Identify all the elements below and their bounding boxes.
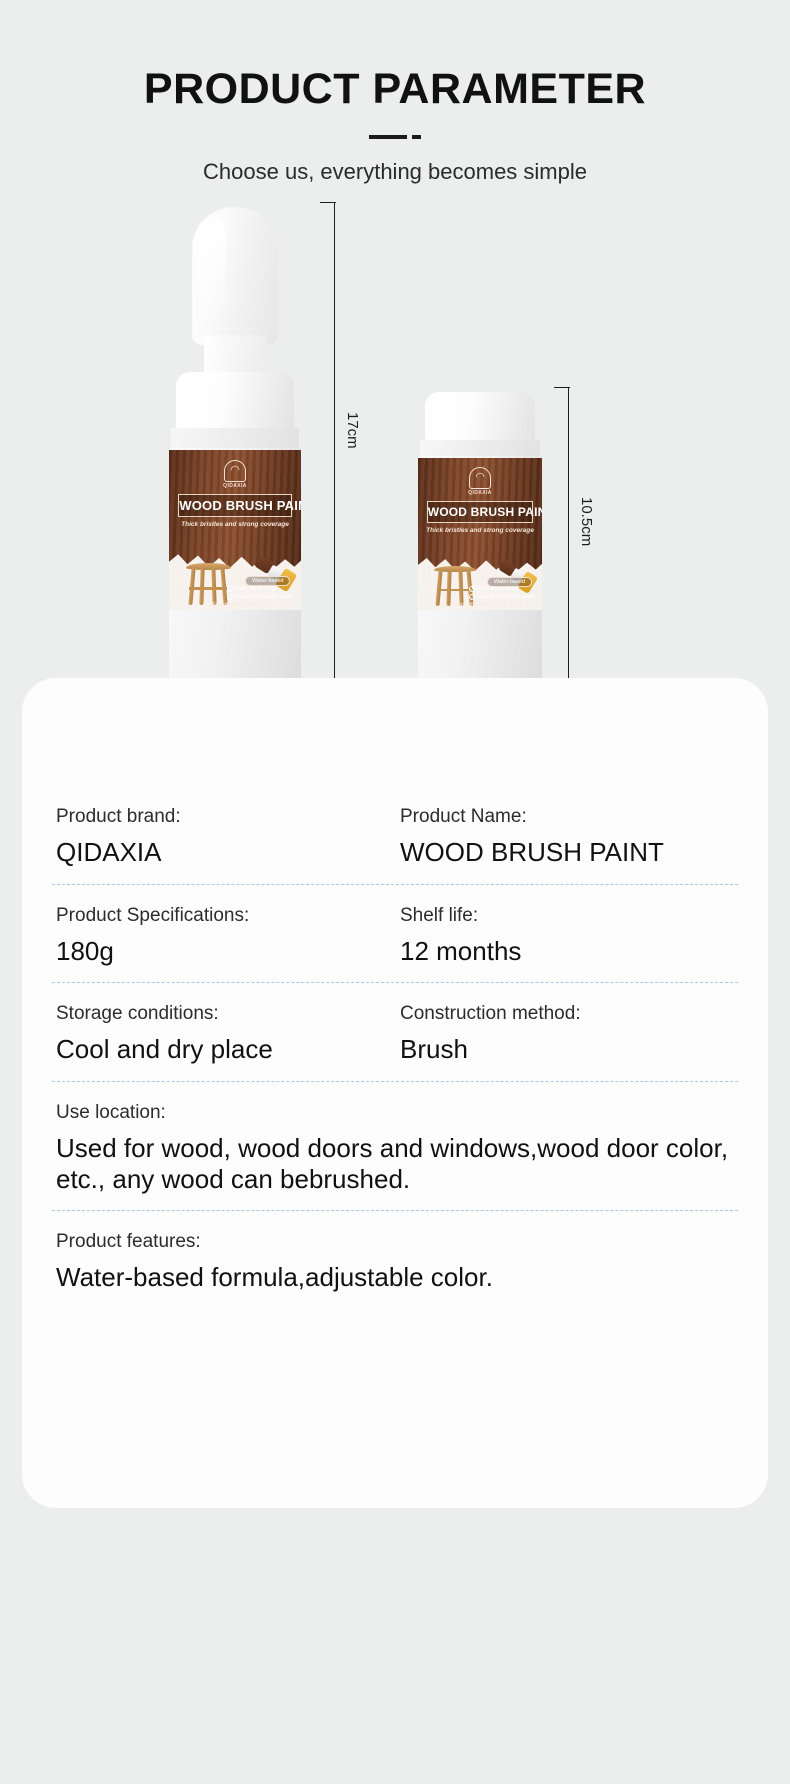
title-divider <box>0 135 790 139</box>
bottle-collar-large <box>171 428 299 450</box>
spec-value: WOOD BRUSH PAINT <box>400 837 738 868</box>
stool-illustration <box>186 563 231 606</box>
label-feature-item: ✓ Paint film is tough <box>469 586 535 592</box>
divider-long-dash <box>369 135 407 139</box>
spec-label: Use location: <box>56 1102 738 1124</box>
spec-value: Water-based formula,adjustable color. <box>56 1262 738 1293</box>
label-specification: Specification:180g <box>418 602 542 608</box>
label-feature-text: Paint film is tough <box>235 586 278 592</box>
label-tagline: Thick bristles and strong coverage <box>181 521 289 528</box>
label-feature-text: Easy to clean and reuse <box>477 594 535 600</box>
product-bottle-small: ◠ QIDAXIA WOOD BRUSH PAINT Thick bristle… <box>410 207 550 707</box>
label-product-title: WOOD BRUSH PAINT <box>428 505 533 519</box>
brand-logo-text: QIDAXIA <box>223 483 247 489</box>
label-title-box: WOOD BRUSH PAINT <box>427 501 534 523</box>
spec-row: Storage conditions: Cool and dry place C… <box>52 983 738 1082</box>
check-icon: ✓ <box>227 594 233 600</box>
label-feature-list: ✓ Paint film is tough ✓ Easy to clean an… <box>227 586 293 600</box>
spec-row: Product features: Water-based formula,ad… <box>52 1211 738 1309</box>
label-title-box: WOOD BRUSH PAINT <box>178 494 292 518</box>
water-based-badge: Water-based <box>245 576 290 586</box>
check-icon: ✓ <box>469 594 475 600</box>
dimension-line-small-height <box>568 387 569 695</box>
spec-label: Product Name: <box>400 806 738 828</box>
specification-list: Product brand: QIDAXIA Product Name: WOO… <box>22 678 768 1309</box>
label-feature-text: Paint film is tough <box>477 586 520 592</box>
spec-cell-product-specifications: Product Specifications: 180g <box>52 905 394 967</box>
spec-cell-product-name: Product Name: WOOD BRUSH PAINT <box>394 806 738 868</box>
spec-cell-product-brand: Product brand: QIDAXIA <box>52 806 394 868</box>
product-label-small: ◠ QIDAXIA WOOD BRUSH PAINT Thick bristle… <box>418 458 542 610</box>
label-feature-item: ✓ Easy to clean and reuse <box>227 594 293 600</box>
brush-bristles <box>192 207 278 345</box>
spec-label: Shelf life: <box>400 905 738 927</box>
label-illustration: Water-based ✓ Paint film is tough ✓ Easy… <box>169 528 301 610</box>
brand-logo-text: QIDAXIA <box>468 490 492 496</box>
spec-cell-product-features: Product features: Water-based formula,ad… <box>52 1231 738 1293</box>
spec-cell-storage-conditions: Storage conditions: Cool and dry place <box>52 1003 394 1065</box>
page-header: PRODUCT PARAMETER Choose us, everything … <box>0 0 790 185</box>
page-subtitle: Choose us, everything becomes simple <box>0 159 790 185</box>
spec-label: Product brand: <box>56 806 394 828</box>
label-product-title: WOOD BRUSH PAINT <box>179 498 291 513</box>
check-icon: ✓ <box>227 586 233 592</box>
spec-label: Storage conditions: <box>56 1003 394 1025</box>
dimension-label-small-height: 10.5cm <box>578 497 595 546</box>
label-tagline: Thick bristles and strong coverage <box>426 527 534 534</box>
label-feature-item: ✓ Paint film is tough <box>227 586 293 592</box>
divider-short-dash <box>412 135 421 139</box>
label-feature-text: Easy to clean and reuse <box>235 594 293 600</box>
spec-value: Used for wood, wood doors and windows,wo… <box>56 1133 738 1194</box>
bottle-cap-small <box>425 392 535 442</box>
label-feature-list: ✓ Paint film is tough ✓ Easy to clean an… <box>469 586 535 600</box>
brush-ferrule <box>204 335 266 375</box>
spec-label: Product features: <box>56 1231 738 1253</box>
brand-logo-icon: ◠ <box>224 460 246 482</box>
spec-value: Cool and dry place <box>56 1034 394 1065</box>
spec-cell-construction-method: Construction method: Brush <box>394 1003 738 1065</box>
spec-label: Product Specifications: <box>56 905 394 927</box>
label-illustration: Water-based ✓ Paint film is tough ✓ Easy… <box>418 534 542 610</box>
label-feature-item: ✓ Easy to clean and reuse <box>469 594 535 600</box>
spec-value: QIDAXIA <box>56 837 394 868</box>
dimension-line-big-height <box>334 202 335 695</box>
page-title: PRODUCT PARAMETER <box>0 66 790 113</box>
specification-card: Product brand: QIDAXIA Product Name: WOO… <box>22 678 768 1508</box>
brand-logo-icon: ◠ <box>469 467 491 489</box>
spec-row: Product brand: QIDAXIA Product Name: WOO… <box>52 806 738 885</box>
spec-row: Product Specifications: 180g Shelf life:… <box>52 885 738 984</box>
spec-row: Use location: Used for wood, wood doors … <box>52 1082 738 1211</box>
spec-cell-shelf-life: Shelf life: 12 months <box>394 905 738 967</box>
spec-cell-use-location: Use location: Used for wood, wood doors … <box>52 1102 738 1194</box>
spec-value: 12 months <box>400 936 738 967</box>
check-icon: ✓ <box>469 586 475 592</box>
stool-rung <box>189 587 228 589</box>
product-bottle-large: ◠ QIDAXIA WOOD BRUSH PAINT Thick bristle… <box>165 207 305 707</box>
label-specification: Specification:180g <box>169 602 301 608</box>
spec-value: Brush <box>400 1034 738 1065</box>
dimension-label-big-height: 17cm <box>344 412 361 449</box>
spec-value: 180g <box>56 936 394 967</box>
product-label-large: ◠ QIDAXIA WOOD BRUSH PAINT Thick bristle… <box>169 450 301 610</box>
bottle-cap-large <box>176 372 294 430</box>
stool-rung <box>437 589 473 591</box>
spec-label: Construction method: <box>400 1003 738 1025</box>
